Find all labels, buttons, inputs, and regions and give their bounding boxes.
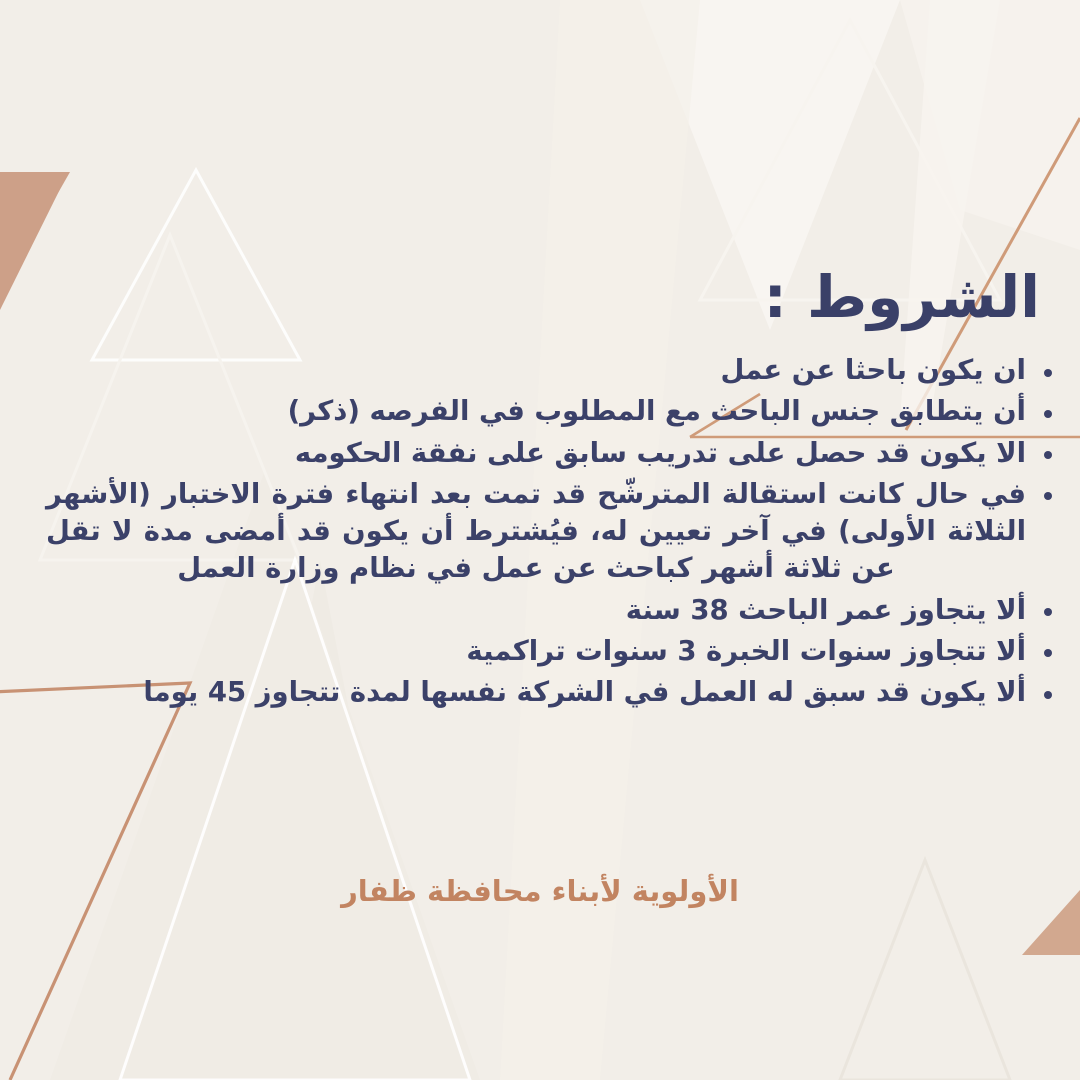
condition-text: في حال كانت استقالة المترشّح قد تمت بعد … bbox=[40, 476, 1026, 588]
list-item: أن يتطابق جنس الباحث مع المطلوب في الفرص… bbox=[40, 393, 1060, 430]
condition-text: أن يتطابق جنس الباحث مع المطلوب في الفرص… bbox=[40, 393, 1026, 430]
conditions-list: ان يكون باحثا عن عمل أن يتطابق جنس الباح… bbox=[40, 352, 1060, 715]
bullet-dot-icon bbox=[1044, 608, 1052, 616]
poster-content: الشروط : ان يكون باحثا عن عمل أن يتطابق … bbox=[0, 0, 1080, 1080]
list-item: ألا تتجاوز سنوات الخبرة 3 سنوات تراكمية bbox=[40, 633, 1060, 670]
condition-text: ان يكون باحثا عن عمل bbox=[40, 352, 1026, 389]
condition-text: ألا يتجاوز عمر الباحث 38 سنة bbox=[40, 592, 1026, 629]
poster-canvas: الشروط : ان يكون باحثا عن عمل أن يتطابق … bbox=[0, 0, 1080, 1080]
bullet-dot-icon bbox=[1044, 691, 1052, 699]
priority-note: الأولوية لأبناء محافظة ظفار bbox=[0, 874, 1080, 908]
list-item: ان يكون باحثا عن عمل bbox=[40, 352, 1060, 389]
condition-text: الا يكون قد حصل على تدريب سابق على نفقة … bbox=[40, 435, 1026, 472]
condition-text: ألا تتجاوز سنوات الخبرة 3 سنوات تراكمية bbox=[40, 633, 1026, 670]
list-item: في حال كانت استقالة المترشّح قد تمت بعد … bbox=[40, 476, 1060, 588]
bullet-dot-icon bbox=[1044, 492, 1052, 500]
list-item: ألا يتجاوز عمر الباحث 38 سنة bbox=[40, 592, 1060, 629]
bullet-dot-icon bbox=[1044, 649, 1052, 657]
list-item: ألا يكون قد سبق له العمل في الشركة نفسها… bbox=[40, 674, 1060, 711]
bullet-dot-icon bbox=[1044, 369, 1052, 377]
bullet-dot-icon bbox=[1044, 410, 1052, 418]
list-item: الا يكون قد حصل على تدريب سابق على نفقة … bbox=[40, 435, 1060, 472]
condition-text: ألا يكون قد سبق له العمل في الشركة نفسها… bbox=[40, 674, 1026, 711]
bullet-dot-icon bbox=[1044, 451, 1052, 459]
page-title: الشروط : bbox=[40, 267, 1040, 328]
